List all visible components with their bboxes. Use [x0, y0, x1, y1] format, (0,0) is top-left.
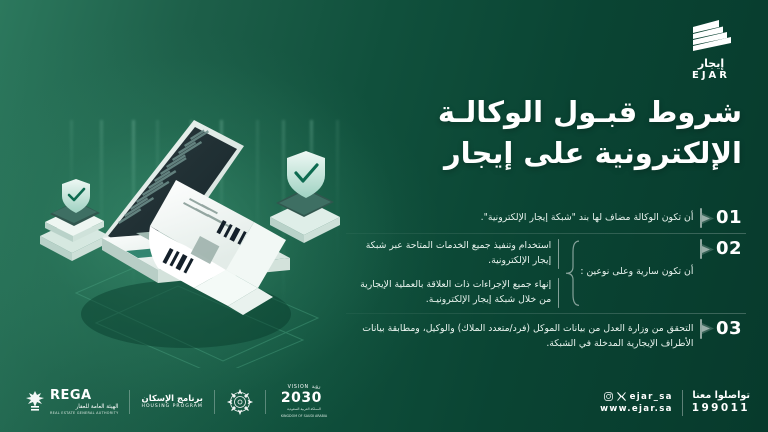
condition-number: 02 — [713, 240, 746, 258]
condition-text: أن تكون سارية وعلى نوعين : — [580, 239, 693, 308]
brand-name-en: EJAR — [680, 70, 742, 82]
partner-logo-vision-2030: VISION رؤية 2030 المملكة العربية السعودي… — [266, 386, 338, 418]
subitem-text: استخدام وتنفيذ جميع الخدمات المتاحة عبر … — [346, 239, 551, 269]
condition-subgroup: أن تكون سارية وعلى نوعين : استخدام وتنفي… — [346, 238, 693, 308]
condition-subitems: استخدام وتنفيذ جميع الخدمات المتاحة عبر … — [346, 239, 559, 308]
partner-logo-housing-program: برنامج الإسكان HOUSING PROGRAM — [130, 394, 213, 411]
rega-name-ar: الهيئة العامة للعقار — [50, 404, 118, 412]
curly-brace-icon — [564, 239, 580, 308]
conditions-list: 01 أن تكون الوكالة مضاف لها بند "شبكة إي… — [346, 203, 746, 356]
vision-2030-sub-en: KINGDOM OF SAUDI ARABIA — [281, 414, 327, 418]
chevron-right-icon — [702, 213, 714, 224]
condition-number-group: 02 — [693, 238, 746, 259]
condition-number: 03 — [713, 320, 746, 338]
hero-illustration — [18, 118, 368, 368]
condition-number-group: 01 — [693, 207, 746, 228]
contact-separator — [682, 390, 683, 416]
brand-name-ar: إيجار — [680, 58, 742, 69]
list-item: إنهاء جميع الإجراءات ذات العلاقة بالعملي… — [346, 278, 559, 308]
social-handle[interactable]: ejar_sa — [630, 391, 673, 403]
instagram-icon[interactable] — [604, 392, 613, 401]
condition-number-group: 03 — [693, 318, 746, 339]
vision-2030-text: VISION رؤية 2030 المملكة العربية السعودي… — [281, 386, 327, 418]
vision-2030-number: 2030 — [281, 391, 327, 405]
contact-info: تواصلوا معنا 199011 — [692, 390, 750, 416]
condition-text: أن تكون الوكالة مضاف لها بند "شبكة إيجار… — [346, 207, 693, 225]
partner-logos: REGA الهيئة العامة للعقار REAL ESTATE GE… — [14, 386, 338, 418]
chevron-right-icon — [702, 323, 714, 334]
condition-text: التحقق من وزارة العدل من بيانات الموكل (… — [346, 318, 693, 351]
condition-item: 02 أن تكون سارية وعلى نوعين : استخدام وت… — [346, 234, 746, 313]
subitem-bar — [558, 278, 559, 308]
list-item: استخدام وتنفيذ جميع الخدمات المتاحة عبر … — [346, 239, 559, 269]
rega-name-en: REAL ESTATE GENERAL AUTHORITY — [50, 411, 118, 415]
x-twitter-icon[interactable] — [617, 392, 626, 401]
condition-item: 01 أن تكون الوكالة مضاف لها بند "شبكة إي… — [346, 203, 746, 233]
page-title: شروط قبـول الوكالـة الإلكترونية على إيجا… — [322, 92, 742, 174]
subitem-text: إنهاء جميع الإجراءات ذات العلاقة بالعملي… — [346, 278, 551, 308]
condition-item: 03 التحقق من وزارة العدل من بيانات الموك… — [346, 314, 746, 356]
contact-phone[interactable]: 199011 — [692, 402, 750, 416]
housing-program-text: برنامج الإسكان HOUSING PROGRAM — [141, 394, 202, 411]
partner-logo-rega: REGA الهيئة العامة للعقار REAL ESTATE GE… — [14, 389, 129, 416]
website-link[interactable]: www.ejar.sa — [600, 403, 673, 415]
vision-2030-sub-ar: المملكة العربية السعودية — [281, 407, 327, 411]
housing-program-name-en: HOUSING PROGRAM — [141, 404, 202, 410]
partner-logo-saudi-emblem — [215, 388, 265, 416]
ejar-flag-icon — [689, 18, 733, 54]
title-line-1: شروط قبـول الوكالـة — [438, 95, 742, 129]
contact-label: تواصلوا معنا — [692, 390, 750, 402]
social-links: ejar_sa www.ejar.sa — [600, 391, 673, 415]
rega-text: REGA الهيئة العامة للعقار REAL ESTATE GE… — [50, 389, 118, 416]
rega-mark-icon — [25, 391, 45, 413]
saudi-emblem-icon — [226, 388, 254, 416]
social-handle-row[interactable]: ejar_sa — [600, 391, 673, 403]
title-line-2: الإلكترونية على إيجار — [322, 133, 742, 174]
housing-program-name-ar: برنامج الإسكان — [141, 394, 202, 403]
rega-name: REGA — [50, 389, 118, 402]
subitem-bar — [558, 239, 559, 269]
ejar-brand-logo: إيجار EJAR — [680, 18, 742, 82]
chevron-right-icon — [702, 244, 714, 255]
poster-canvas: إيجار EJAR شروط قبـول الوكالـة الإلكترون… — [0, 0, 768, 432]
contact-block: ejar_sa www.ejar.sa تواصلوا معنا 199011 — [600, 390, 750, 416]
condition-number: 01 — [713, 209, 746, 227]
